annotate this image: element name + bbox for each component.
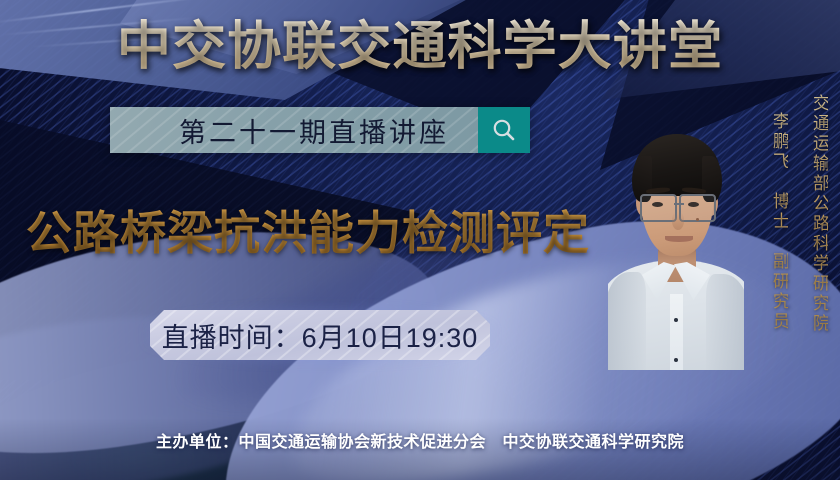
subtitle-banner: 第二十一期直播讲座: [110, 107, 530, 153]
promo-poster: 交通运输部公路科学研究院 李鹏飞 博士 副研究员 中交协联交通科学大讲堂 中交协…: [0, 0, 840, 480]
footer-organizers: 主办单位：中国交通运输协会新技术促进分会 中交协联交通科学研究院: [0, 428, 840, 452]
speaker-shirt-shadow-left: [608, 272, 646, 370]
headline: 公路桥梁抗洪能力检测评定: [26, 204, 590, 262]
speaker-organization-vertical: 交通运输部公路科学研究院: [811, 94, 828, 334]
time-text: 直播时间：6月10日19:30: [162, 316, 479, 355]
speaker-portrait: [608, 112, 744, 370]
subtitle-banner-body: 第二十一期直播讲座: [110, 107, 478, 153]
speaker-nose: [672, 212, 684, 230]
search-icon-box[interactable]: [478, 107, 530, 153]
subtitle-text: 第二十一期直播讲座: [139, 111, 449, 150]
search-icon: [491, 117, 517, 143]
main-title: 中交协联交通科学大讲堂: [0, 16, 840, 78]
speaker-name-vertical: 李鹏飞 博士 副研究员: [771, 112, 788, 332]
time-plate: 直播时间：6月10日19:30: [150, 310, 490, 360]
speaker-shirt-shadow-right: [706, 274, 744, 370]
speaker-shirt-button-2: [674, 358, 678, 362]
speaker-mole: [696, 218, 699, 221]
speaker-glasses-bridge: [674, 203, 684, 205]
speaker-mouth: [665, 236, 693, 242]
speaker-shirt-button-1: [674, 318, 678, 322]
